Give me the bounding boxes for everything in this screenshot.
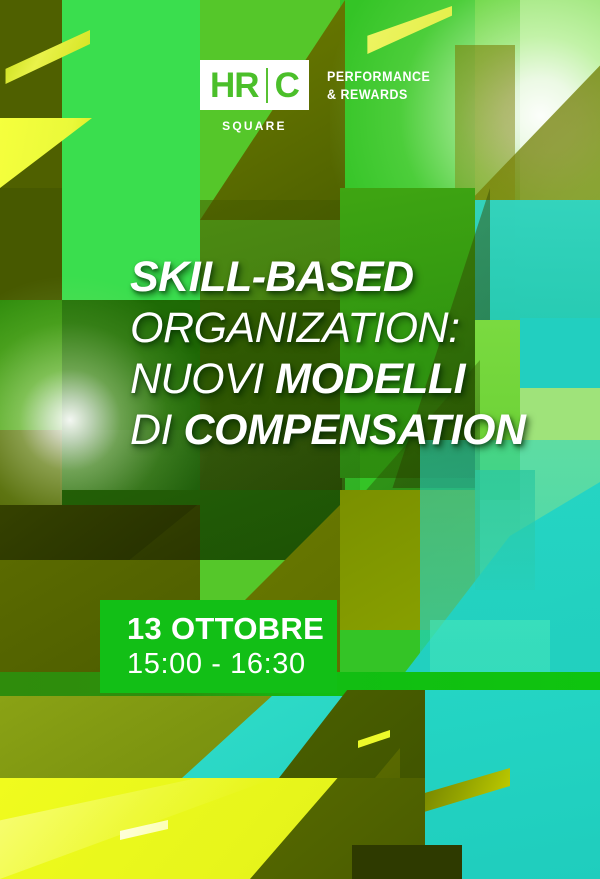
title-line-3-light: NUOVI (130, 355, 275, 403)
title-line-4: DI COMPENSATION (130, 405, 560, 456)
hrc-logo-box: HR C (200, 60, 309, 110)
title-line-1-text: SKILL-BASED (130, 253, 414, 301)
poster-content: HR C SQUARE PERFORMANCE & REWARDS SKILL-… (0, 0, 600, 879)
title-line-2-text: ORGANIZATION: (130, 304, 460, 352)
tagline-line-1: PERFORMANCE (327, 68, 430, 86)
event-time: 15:00 - 16:30 (127, 649, 337, 679)
title-line-4-bold: COMPENSATION (183, 406, 525, 454)
poster-title: SKILL-BASED ORGANIZATION: NUOVI MODELLI … (130, 252, 560, 456)
title-line-1: SKILL-BASED (130, 252, 560, 303)
title-line-3-bold: MODELLI (275, 355, 465, 403)
tagline-line-2: & REWARDS (327, 86, 430, 104)
event-datetime-inner: 13 OTTOBRE 15:00 - 16:30 (100, 600, 337, 679)
event-date: 13 OTTOBRE (127, 613, 337, 646)
tagline: PERFORMANCE & REWARDS (327, 60, 439, 104)
event-poster: HR C SQUARE PERFORMANCE & REWARDS SKILL-… (0, 0, 600, 879)
hrc-logo-hr-text: HR (210, 68, 268, 103)
title-line-3: NUOVI MODELLI (130, 354, 560, 405)
brand-lockup: HR C SQUARE PERFORMANCE & REWARDS (200, 60, 439, 133)
title-line-2: ORGANIZATION: (130, 303, 560, 354)
title-line-4-light: DI (130, 406, 183, 454)
hrc-logo-c-text: C (268, 68, 299, 103)
hrc-logo-square-text: SQUARE (222, 119, 287, 133)
hrc-logo: HR C SQUARE (200, 60, 309, 133)
event-datetime-block: 13 OTTOBRE 15:00 - 16:30 (100, 600, 337, 693)
